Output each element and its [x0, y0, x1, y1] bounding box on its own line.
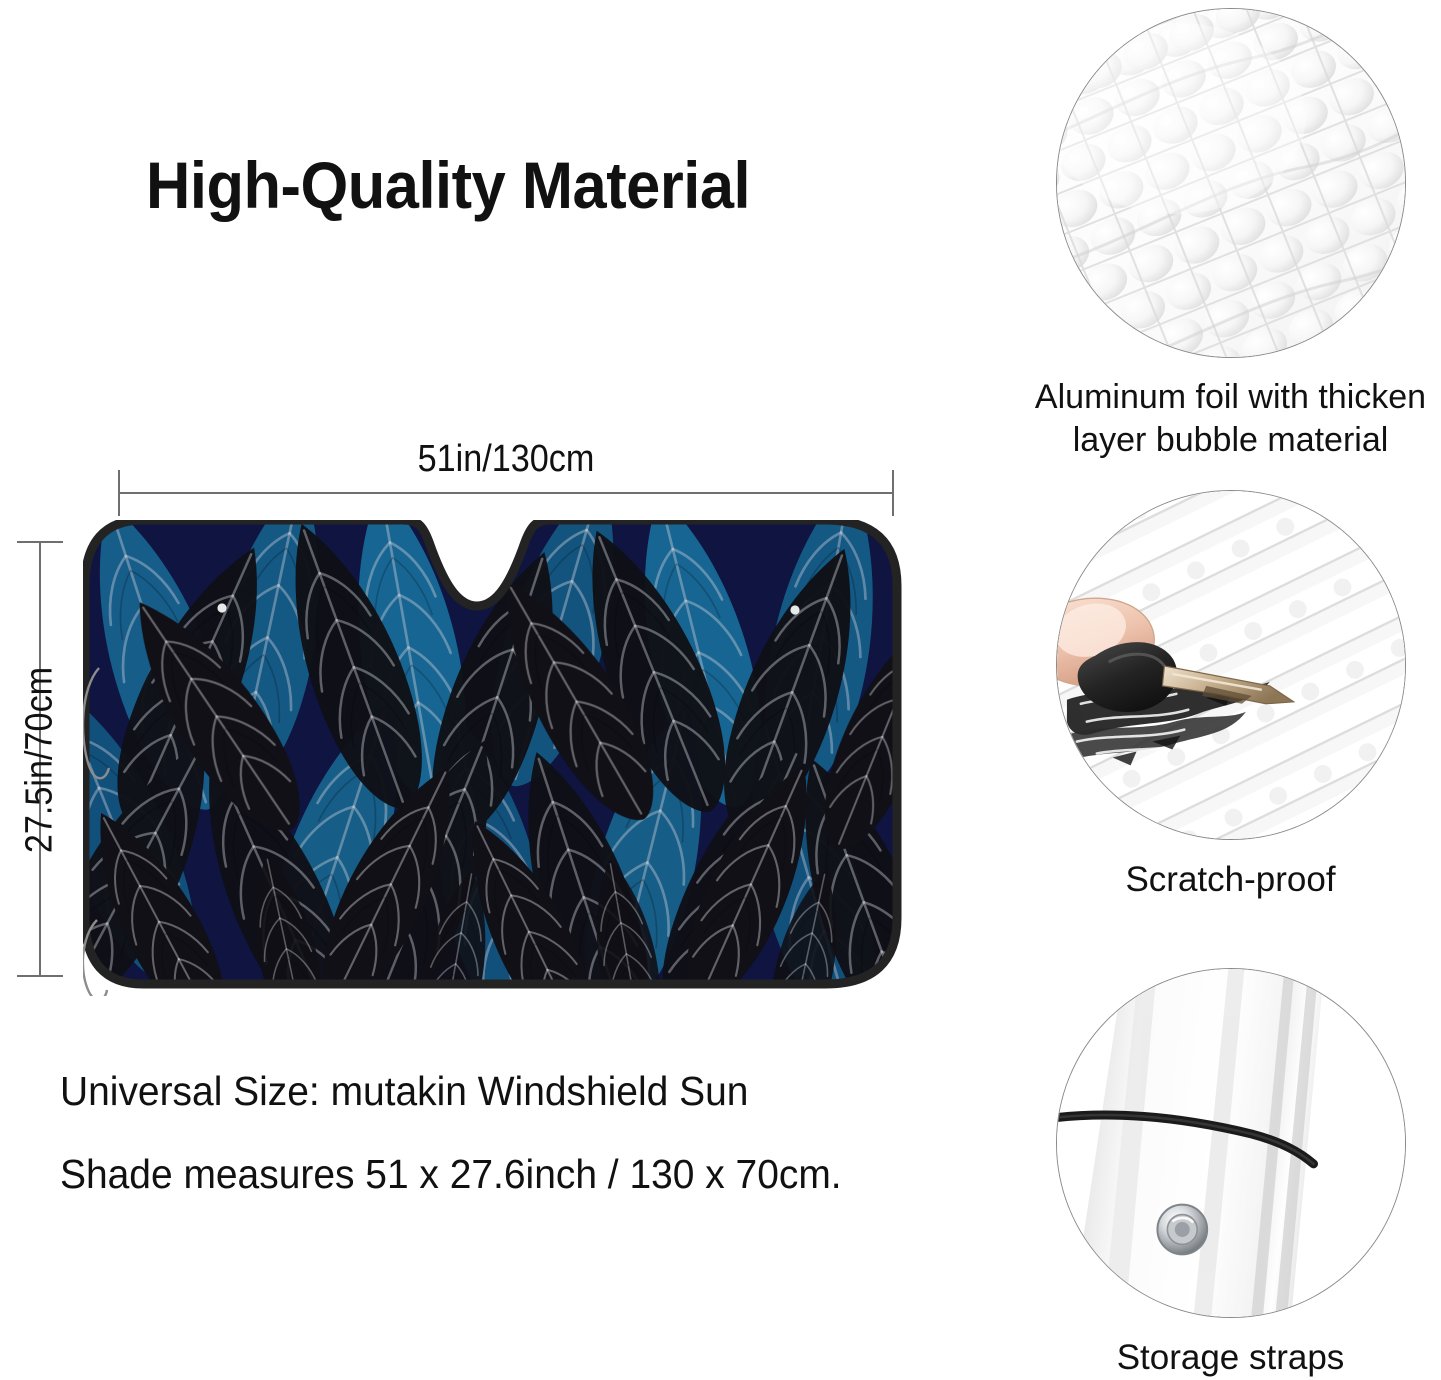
height-dimension-label: 27.5in/70cm — [19, 667, 62, 853]
feature-aluminum-foil: Aluminum foil with thicken layer bubble … — [1020, 8, 1441, 462]
width-dimension-label: 51in/130cm — [157, 438, 855, 481]
caption-line-2: Shade measures 51 x 27.6inch / 130 x 70c… — [60, 1133, 972, 1216]
product-size-caption: Universal Size: mutakin Windshield Sun S… — [60, 1050, 972, 1216]
feature-storage-straps: Storage straps — [1020, 968, 1441, 1380]
feature-label-scratch-proof: Scratch-proof — [1020, 858, 1441, 902]
feature-label-aluminum-foil: Aluminum foil with thicken layer bubble … — [1020, 376, 1441, 462]
feature-label-line-1: Storage straps — [1022, 1336, 1439, 1380]
product-overview-panel: High-Quality Material 51in/130cm 27.5in/… — [0, 0, 1020, 1358]
feature-image-bubble-foil — [1056, 8, 1406, 358]
grommet-dot — [790, 605, 799, 614]
width-dimension-line — [118, 492, 894, 494]
grommet-dot — [217, 603, 226, 612]
feature-image-storage-straps — [1056, 968, 1406, 1318]
feature-label-line-2: layer bubble material — [1022, 419, 1439, 462]
caption-line-1: Universal Size: mutakin Windshield Sun — [60, 1050, 972, 1133]
snap-button — [1157, 1205, 1207, 1255]
product-sunshade-image — [83, 520, 909, 996]
feature-label-line-1: Scratch-proof — [1022, 858, 1439, 902]
feature-label-storage-straps: Storage straps — [1020, 1336, 1441, 1380]
feature-label-line-1: Aluminum foil with thicken — [1022, 376, 1439, 419]
feature-image-scratch-test — [1056, 490, 1406, 840]
page-title: High-Quality Material — [146, 152, 750, 218]
feature-scratch-proof: Scratch-proof — [1020, 490, 1441, 902]
feature-callouts-panel: Aluminum foil with thicken layer bubble … — [1020, 0, 1441, 1358]
